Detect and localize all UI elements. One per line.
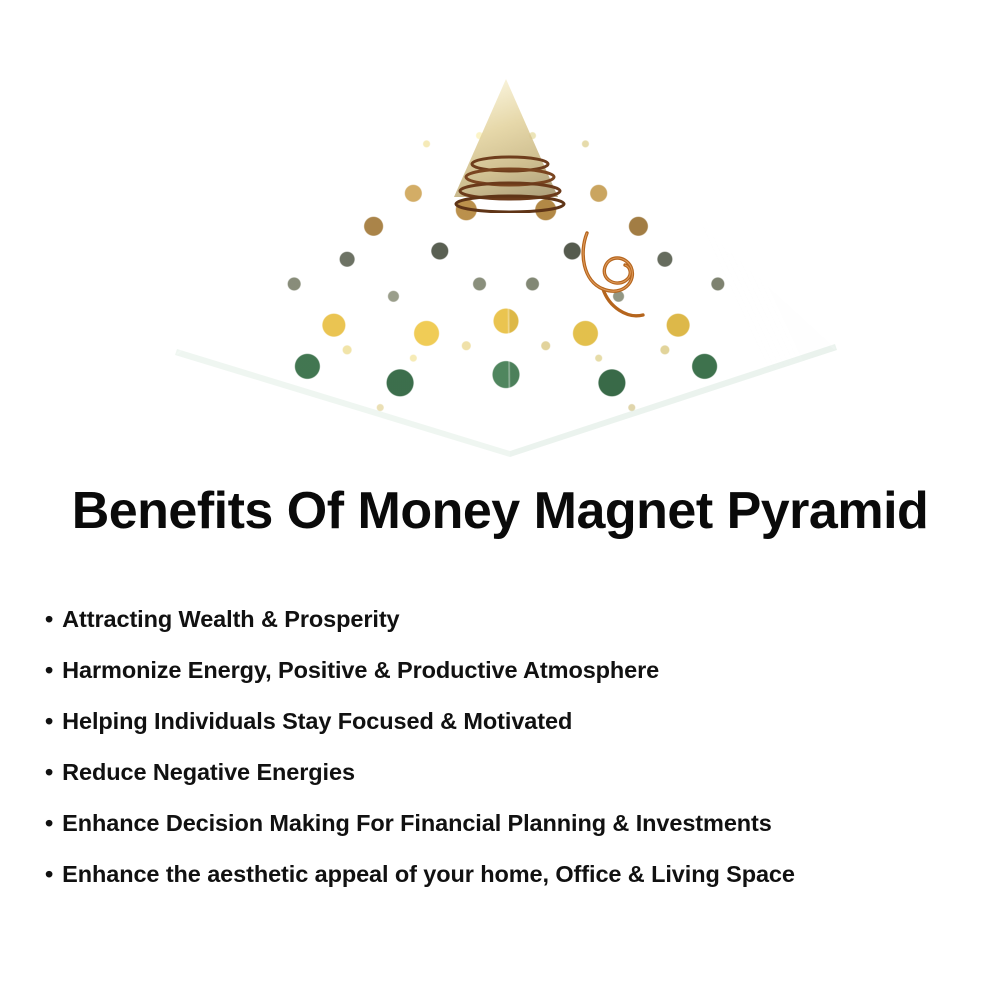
list-item-label: Enhance Decision Making For Financial Pl… <box>62 798 772 849</box>
list-item: • Reduce Negative Energies <box>45 747 965 798</box>
product-benefits-page: Benefits Of Money Magnet Pyramid • Attra… <box>0 0 1000 1000</box>
bullet-icon: • <box>45 645 53 696</box>
bullet-icon: • <box>45 747 53 798</box>
copper-spiral <box>573 223 669 331</box>
list-item: • Enhance the aesthetic appeal of your h… <box>45 849 965 900</box>
bullet-icon: • <box>45 849 53 900</box>
list-item: • Harmonize Energy, Positive & Productiv… <box>45 645 965 696</box>
bullet-icon: • <box>45 798 53 849</box>
list-item-label: Helping Individuals Stay Focused & Motiv… <box>62 696 572 747</box>
bullet-icon: • <box>45 594 53 645</box>
product-image <box>0 0 1000 470</box>
page-title: Benefits Of Money Magnet Pyramid <box>0 484 1000 539</box>
orgone-pyramid <box>175 45 837 457</box>
list-item: • Attracting Wealth & Prosperity <box>45 594 965 645</box>
copper-coil-rings <box>450 155 570 213</box>
list-item-label: Harmonize Energy, Positive & Productive … <box>62 645 659 696</box>
list-item: • Helping Individuals Stay Focused & Mot… <box>45 696 965 747</box>
bullet-icon: • <box>45 696 53 747</box>
benefits-list: • Attracting Wealth & Prosperity • Harmo… <box>45 594 965 900</box>
list-item-label: Attracting Wealth & Prosperity <box>62 594 399 645</box>
list-item-label: Enhance the aesthetic appeal of your hom… <box>62 849 795 900</box>
list-item: • Enhance Decision Making For Financial … <box>45 798 965 849</box>
list-item-label: Reduce Negative Energies <box>62 747 355 798</box>
